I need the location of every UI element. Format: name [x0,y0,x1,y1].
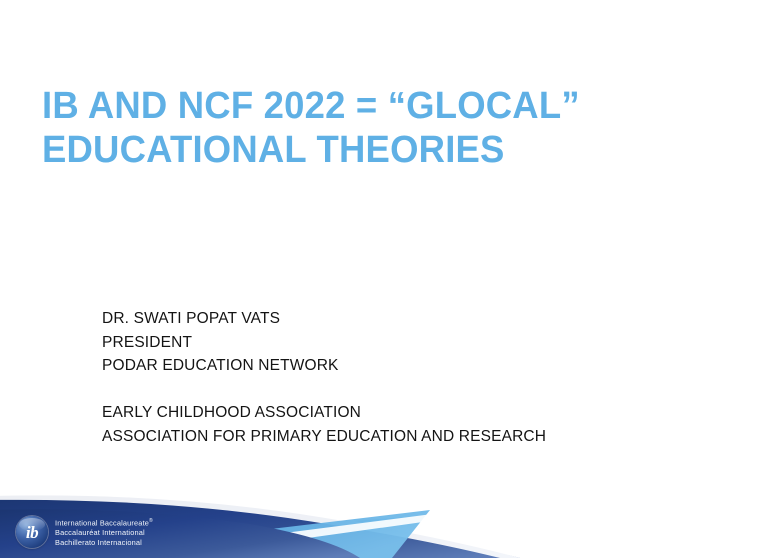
presenter-organization: PODAR EDUCATION NETWORK [102,354,662,378]
footer-banner: ib International Baccalaureate® Baccalau… [0,480,768,558]
ib-wordmark-en: International Baccalaureate® [55,517,153,528]
presenter-role: PRESIDENT [102,331,662,355]
body-spacer [102,378,662,402]
presenter-details: DR. SWATI POPAT VATS PRESIDENT PODAR EDU… [102,307,662,449]
ib-logo: ib International Baccalaureate® Baccalau… [16,516,153,548]
ib-roundel-icon: ib [16,516,48,548]
ib-monogram: ib [26,524,38,541]
page-title: IB AND NCF 2022 = “GLOCAL” EDUCATIONAL T… [42,84,642,172]
ib-wordmark: International Baccalaureate® Baccalauréa… [55,517,153,547]
title-slide: IB AND NCF 2022 = “GLOCAL” EDUCATIONAL T… [0,0,768,558]
title-line-1: IB AND NCF 2022 = “GLOCAL” [42,84,618,128]
affiliation-line-2: ASSOCIATION FOR PRIMARY EDUCATION AND RE… [102,425,662,449]
presenter-name: DR. SWATI POPAT VATS [102,307,662,331]
title-line-2: EDUCATIONAL THEORIES [42,128,618,172]
affiliation-line-1: EARLY CHILDHOOD ASSOCIATION [102,401,662,425]
registered-mark-icon: ® [149,518,153,524]
ib-wordmark-en-text: International Baccalaureate [55,518,149,527]
ib-wordmark-es: Bachillerato Internacional [55,538,153,548]
ib-wordmark-fr: Baccalauréat International [55,528,153,538]
